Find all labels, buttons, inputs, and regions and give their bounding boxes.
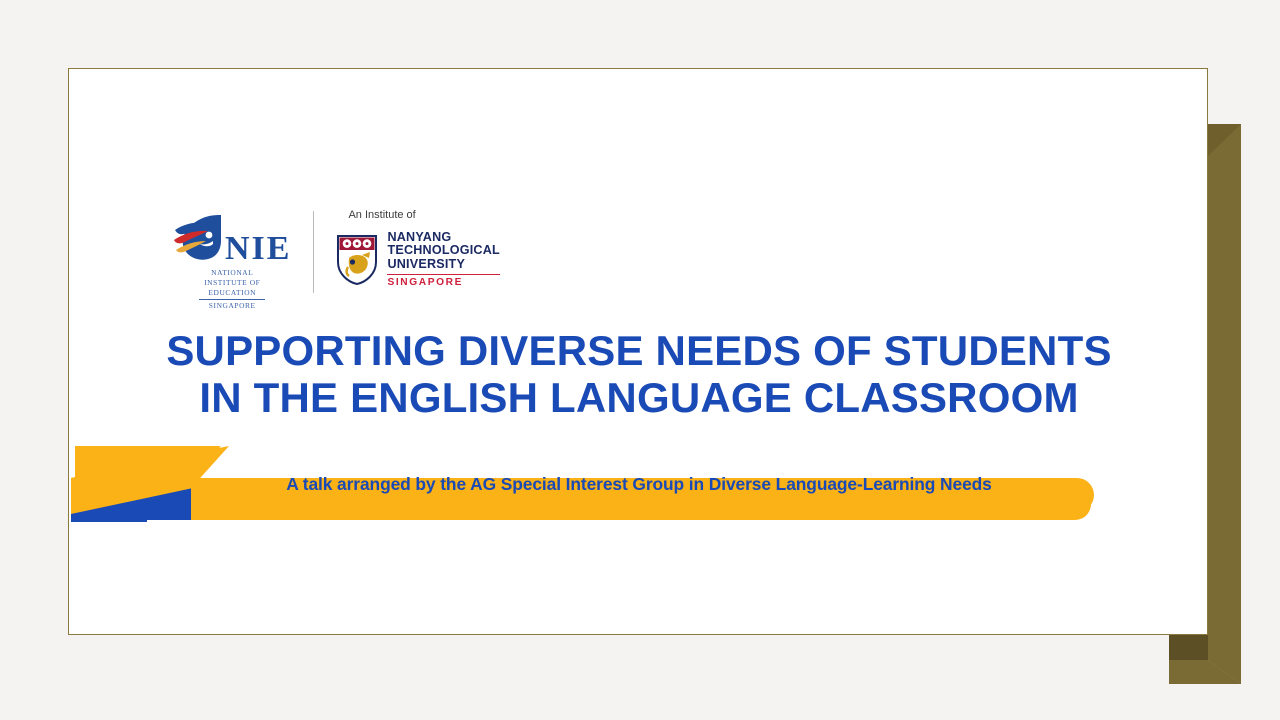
ntu-row: NANYANG TECHNOLOGICAL UNIVERSITY SINGAPO… xyxy=(336,231,499,288)
nie-wordmark: NIE xyxy=(225,234,291,265)
slide-title: SUPPORTING DIVERSE NEEDS OF STUDENTS IN … xyxy=(159,327,1119,422)
slide-card: NIE NATIONAL INSTITUTE OF EDUCATION SING… xyxy=(68,68,1208,635)
nie-rule xyxy=(199,299,265,300)
slide-subtitle: A talk arranged by the AG Special Intere… xyxy=(159,474,1119,495)
ntu-logo: An Institute of xyxy=(336,207,499,288)
nie-subtext-line1: NATIONAL xyxy=(193,268,271,278)
nie-mark-row: NIE xyxy=(173,213,291,265)
nie-logo: NIE NATIONAL INSTITUTE OF EDUCATION SING… xyxy=(173,207,291,311)
ntu-crest-icon xyxy=(336,234,378,286)
logo-lockup: NIE NATIONAL INSTITUTE OF EDUCATION SING… xyxy=(173,207,500,311)
ntu-line3: UNIVERSITY xyxy=(387,258,499,271)
nie-subtext-line2: INSTITUTE OF xyxy=(193,278,271,288)
nie-subtext-line3: EDUCATION xyxy=(193,288,271,298)
logo-divider xyxy=(313,211,314,293)
nie-subtext-line4: SINGAPORE xyxy=(193,301,271,311)
ntu-line1: NANYANG xyxy=(387,231,499,244)
nie-lion-swoosh-icon xyxy=(173,213,229,265)
slide-stage: NIE NATIONAL INSTITUTE OF EDUCATION SING… xyxy=(0,0,1280,720)
ntu-wordmark: NANYANG TECHNOLOGICAL UNIVERSITY SINGAPO… xyxy=(387,231,499,288)
an-institute-of-label: An Institute of xyxy=(348,209,499,221)
nie-subtext: NATIONAL INSTITUTE OF EDUCATION SINGAPOR… xyxy=(193,268,271,311)
ntu-line2: TECHNOLOGICAL xyxy=(387,244,499,257)
ntu-line4: SINGAPORE xyxy=(387,274,499,288)
